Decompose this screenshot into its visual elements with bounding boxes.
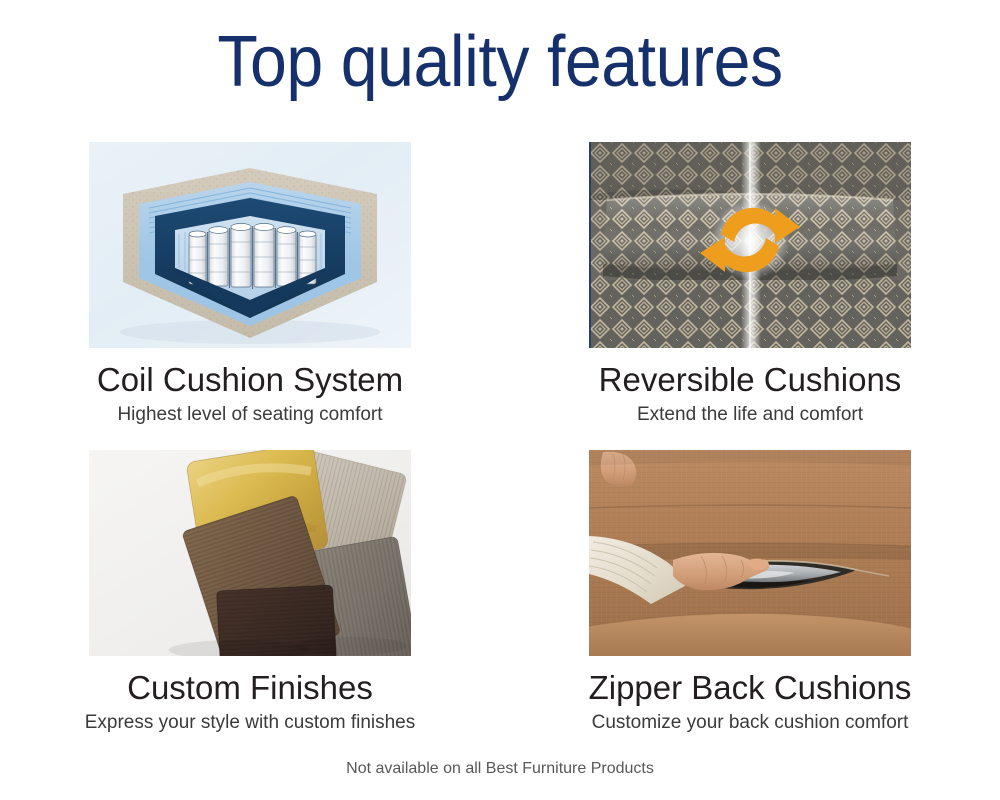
feature-subtitle: Express your style with custom finishes bbox=[85, 710, 416, 736]
features-grid: Coil Cushion System Highest level of sea… bbox=[0, 142, 1000, 736]
zipper-back-cushion-photo bbox=[589, 450, 911, 656]
feature-card-zipper-back-cushions[interactable]: Zipper Back Cushions Customize your back… bbox=[500, 450, 1000, 736]
feature-card-custom-finishes[interactable]: Custom Finishes Express your style with … bbox=[0, 450, 500, 736]
feature-heading: Zipper Back Cushions bbox=[589, 668, 912, 708]
footnote: Not available on all Best Furniture Prod… bbox=[0, 758, 1000, 780]
feature-card-reversible-cushions[interactable]: Reversible Cushions Extend the life and … bbox=[500, 142, 1000, 428]
feature-card-coil-cushion-system[interactable]: Coil Cushion System Highest level of sea… bbox=[0, 142, 500, 428]
feature-poster: Top quality features bbox=[0, 0, 1000, 800]
feature-heading: Coil Cushion System bbox=[97, 360, 403, 400]
feature-subtitle: Highest level of seating comfort bbox=[117, 402, 382, 428]
coil-cushion-cutaway-illustration bbox=[89, 142, 411, 348]
reversible-cushion-photo bbox=[589, 142, 911, 348]
feature-heading: Reversible Cushions bbox=[599, 360, 902, 400]
page-title: Top quality features bbox=[40, 16, 960, 108]
wood-finish-swatches-photo bbox=[89, 450, 411, 656]
feature-subtitle: Customize your back cushion comfort bbox=[592, 710, 909, 736]
feature-heading: Custom Finishes bbox=[127, 668, 373, 708]
feature-subtitle: Extend the life and comfort bbox=[637, 402, 863, 428]
